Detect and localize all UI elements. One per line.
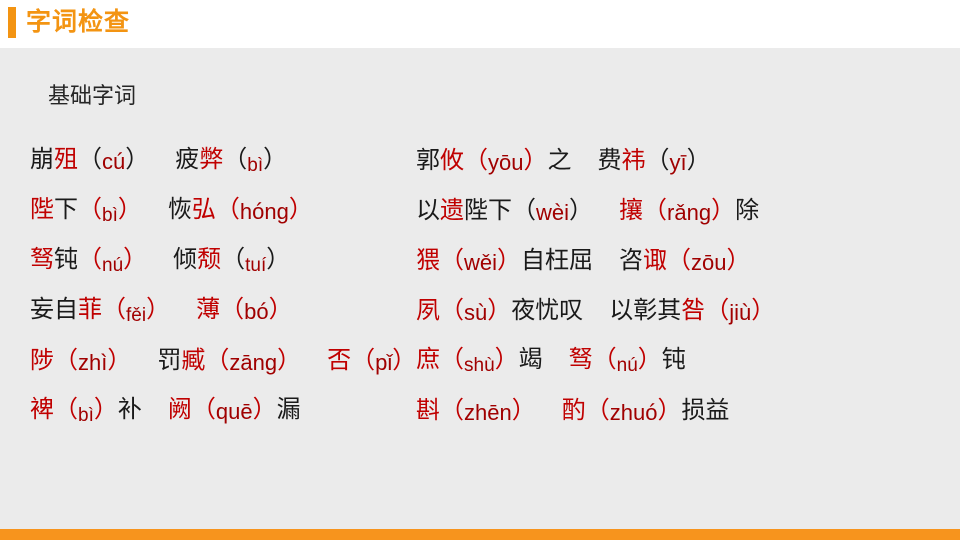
target-hanzi: 颓 xyxy=(197,246,221,273)
word-tail-hanzi: 除 xyxy=(735,197,759,224)
pinyin-open-paren: （ xyxy=(78,146,102,173)
word-tail-hanzi: 夜忧叹 xyxy=(511,297,583,324)
word-prefix-hanzi: 以彰其 xyxy=(609,297,681,324)
pinyin-close-paren: ） xyxy=(263,146,287,173)
pinyin-open-paren: （ xyxy=(645,147,669,174)
pinyin-open-paren: （ xyxy=(705,297,729,324)
pinyin-open-paren: （ xyxy=(54,347,78,374)
target-hanzi: 斟 xyxy=(416,397,440,424)
word-entry: 费祎（yī） xyxy=(597,146,710,176)
word-column-left: 陛下（bì）恢弘（hóng） xyxy=(0,195,400,227)
target-hanzi: 驽 xyxy=(569,346,593,373)
pinyin-annotation: bó xyxy=(244,299,268,324)
word-entry: 攘（rǎng）除 xyxy=(619,196,759,226)
pinyin-annotation: shù xyxy=(464,355,495,376)
pinyin-open-paren: （ xyxy=(221,246,245,273)
pinyin-annotation: sù xyxy=(464,300,487,325)
word-entry: 郭攸（yōu）之 xyxy=(416,146,571,176)
target-hanzi: 诹 xyxy=(643,247,667,274)
word-suffix-hanzi: 下 xyxy=(54,196,78,223)
pinyin-annotation: zhì xyxy=(78,350,107,375)
pinyin-close-paren: ） xyxy=(495,346,519,373)
word-prefix-hanzi: 咨 xyxy=(619,247,643,274)
target-hanzi: 驽 xyxy=(30,246,54,273)
pinyin-open-paren: （ xyxy=(440,346,464,373)
target-hanzi: 攸 xyxy=(440,147,464,174)
word-row: 裨（bì）补阙（quē）漏斟（zhēn）酌（zhuó）损益 xyxy=(0,386,960,436)
pinyin-close-paren: ） xyxy=(118,196,142,223)
word-entry: 夙（sù）夜忧叹 xyxy=(416,296,583,326)
pinyin-close-paren: ） xyxy=(487,297,511,324)
word-row: 陛下（bì）恢弘（hóng）以遗陛下（wèi）攘（rǎng）除 xyxy=(0,186,960,236)
target-hanzi: 否 xyxy=(327,347,351,374)
pinyin-close-paren: ） xyxy=(569,197,593,224)
page-title: 字词检查 xyxy=(26,7,130,38)
target-hanzi: 陟 xyxy=(30,347,54,374)
pinyin-open-paren: （ xyxy=(667,247,691,274)
pinyin-open-paren: （ xyxy=(593,346,617,373)
word-tail-hanzi: 之 xyxy=(547,147,571,174)
pinyin-annotation: jiù xyxy=(729,300,751,325)
pinyin-close-paren: ） xyxy=(657,397,681,424)
word-entry: 裨（bì）补 xyxy=(30,395,142,427)
word-entry: 以遗陛下（wèi） xyxy=(416,196,593,226)
word-entry: 疲弊（bì） xyxy=(175,145,287,177)
section-subtitle: 基础字词 xyxy=(48,82,136,110)
pinyin-annotation: zāng xyxy=(229,350,277,375)
target-hanzi: 弊 xyxy=(199,146,223,173)
word-prefix-hanzi: 罚 xyxy=(157,347,181,374)
pinyin-close-paren: ） xyxy=(638,346,662,373)
target-hanzi: 阙 xyxy=(168,396,192,423)
pinyin-close-paren: ） xyxy=(94,396,118,423)
pinyin-annotation: bì xyxy=(102,205,118,226)
word-row: 驽钝（nú）倾颓（tuí）猥（wěi）自枉屈咨诹（zōu） xyxy=(0,236,960,286)
pinyin-annotation: nú xyxy=(102,255,123,276)
pinyin-annotation: tuí xyxy=(245,255,266,276)
pinyin-open-paren: （ xyxy=(192,396,216,423)
pinyin-annotation: hóng xyxy=(240,199,289,224)
word-entry: 罚臧（zāng） xyxy=(157,346,301,376)
pinyin-close-paren: ） xyxy=(125,146,149,173)
slide-header: 字词检查 xyxy=(0,0,960,48)
target-hanzi: 臧 xyxy=(181,347,205,374)
word-prefix-hanzi: 疲 xyxy=(175,146,199,173)
word-prefix-hanzi: 费 xyxy=(597,147,621,174)
pinyin-open-paren: （ xyxy=(440,397,464,424)
word-entry: 妄自菲（fěi） xyxy=(30,295,170,327)
word-column-left: 崩殂（cú）疲弊（bì） xyxy=(0,145,400,177)
word-tail-hanzi: 钝 xyxy=(662,346,686,373)
word-row: 崩殂（cú）疲弊（bì）郭攸（yōu）之费祎（yī） xyxy=(0,136,960,186)
pinyin-annotation: bì xyxy=(78,405,94,426)
word-entry: 驽（nú）钝 xyxy=(569,345,686,377)
target-hanzi: 菲 xyxy=(78,296,102,323)
pinyin-annotation: zhuó xyxy=(610,400,658,425)
pinyin-annotation: wèi xyxy=(536,200,569,225)
pinyin-close-paren: ） xyxy=(266,246,290,273)
pinyin-open-paren: （ xyxy=(54,396,78,423)
pinyin-open-paren: （ xyxy=(205,347,229,374)
word-column-right: 斟（zhēn）酌（zhuó）损益 xyxy=(400,396,940,426)
pinyin-open-paren: （ xyxy=(78,246,102,273)
pinyin-annotation: quē xyxy=(216,399,253,424)
word-column-left: 驽钝（nú）倾颓（tuí） xyxy=(0,245,400,277)
word-entry: 薄（bó） xyxy=(196,295,292,325)
pinyin-close-paren: ） xyxy=(269,296,293,323)
word-column-right: 猥（wěi）自枉屈咨诹（zōu） xyxy=(400,246,940,276)
target-hanzi: 薄 xyxy=(196,296,220,323)
target-hanzi: 弘 xyxy=(192,196,216,223)
pinyin-open-paren: （ xyxy=(102,296,126,323)
pinyin-annotation: yōu xyxy=(488,150,523,175)
target-hanzi: 陛 xyxy=(30,196,54,223)
pinyin-close-paren: ） xyxy=(523,147,547,174)
word-tail-hanzi: 补 xyxy=(118,396,142,423)
word-entry: 猥（wěi）自枉屈 xyxy=(416,246,593,276)
pinyin-annotation: rǎng xyxy=(667,200,711,225)
pinyin-open-paren: （ xyxy=(216,196,240,223)
word-suffix-hanzi: 钝 xyxy=(54,246,78,273)
slide-body: 基础字词 崩殂（cú）疲弊（bì）郭攸（yōu）之费祎（yī）陛下（bì）恢弘（… xyxy=(0,48,960,529)
word-entry: 以彰其咎（jiù） xyxy=(609,296,775,326)
word-column-right: 夙（sù）夜忧叹以彰其咎（jiù） xyxy=(400,296,940,326)
target-hanzi: 夙 xyxy=(416,297,440,324)
word-entry: 恢弘（hóng） xyxy=(168,195,313,225)
pinyin-open-paren: （ xyxy=(220,296,244,323)
title-accent-bar xyxy=(8,7,16,38)
target-hanzi: 咎 xyxy=(681,297,705,324)
word-entry: 陛下（bì） xyxy=(30,195,142,227)
word-entry: 咨诹（zōu） xyxy=(619,246,750,276)
pinyin-close-paren: ） xyxy=(107,347,131,374)
pinyin-close-paren: ） xyxy=(146,296,170,323)
word-entry: 斟（zhēn） xyxy=(416,396,536,426)
target-hanzi: 攘 xyxy=(619,197,643,224)
pinyin-open-paren: （ xyxy=(512,197,536,224)
pinyin-close-paren: ） xyxy=(289,196,313,223)
word-column-right: 以遗陛下（wèi）攘（rǎng）除 xyxy=(400,196,940,226)
pinyin-open-paren: （ xyxy=(351,347,375,374)
word-column-left: 裨（bì）补阙（quē）漏 xyxy=(0,395,400,427)
word-grid: 崩殂（cú）疲弊（bì）郭攸（yōu）之费祎（yī）陛下（bì）恢弘（hóng）… xyxy=(0,136,960,436)
target-hanzi: 酌 xyxy=(562,397,586,424)
word-tail-hanzi: 漏 xyxy=(277,396,301,423)
pinyin-annotation: bì xyxy=(247,155,263,176)
word-prefix-hanzi: 妄自 xyxy=(30,296,78,323)
footer-accent-bar xyxy=(0,529,960,540)
pinyin-annotation: fěi xyxy=(126,305,146,326)
pinyin-open-paren: （ xyxy=(440,297,464,324)
word-entry: 驽钝（nú） xyxy=(30,245,147,277)
pinyin-annotation: zhēn xyxy=(464,400,512,425)
pinyin-close-paren: ） xyxy=(751,297,775,324)
target-hanzi: 祎 xyxy=(621,147,645,174)
pinyin-open-paren: （ xyxy=(440,247,464,274)
pinyin-close-paren: ） xyxy=(497,247,521,274)
word-row: 妄自菲（fěi）薄（bó）夙（sù）夜忧叹以彰其咎（jiù） xyxy=(0,286,960,336)
word-column-left: 陟（zhì）罚臧（zāng）否（pǐ） xyxy=(0,346,400,376)
word-tail-hanzi: 损益 xyxy=(681,397,729,424)
pinyin-annotation: zōu xyxy=(691,250,726,275)
word-prefix-hanzi: 倾 xyxy=(173,246,197,273)
pinyin-close-paren: ） xyxy=(711,197,735,224)
word-suffix-hanzi: 陛下 xyxy=(464,197,512,224)
target-hanzi: 殂 xyxy=(54,146,78,173)
word-column-left: 妄自菲（fěi）薄（bó） xyxy=(0,295,400,327)
pinyin-annotation: yī xyxy=(669,150,686,175)
pinyin-annotation: wěi xyxy=(464,250,497,275)
pinyin-close-paren: ） xyxy=(277,347,301,374)
target-hanzi: 遗 xyxy=(440,197,464,224)
pinyin-close-paren: ） xyxy=(512,397,536,424)
word-column-right: 庶（shù）竭驽（nú）钝 xyxy=(400,345,940,377)
pinyin-open-paren: （ xyxy=(643,197,667,224)
target-hanzi: 裨 xyxy=(30,396,54,423)
word-tail-hanzi: 竭 xyxy=(519,346,543,373)
word-entry: 阙（quē）漏 xyxy=(168,395,301,425)
pinyin-open-paren: （ xyxy=(223,146,247,173)
word-row: 陟（zhì）罚臧（zāng）否（pǐ）庶（shù）竭驽（nú）钝 xyxy=(0,336,960,386)
word-column-right: 郭攸（yōu）之费祎（yī） xyxy=(400,146,940,176)
word-prefix-hanzi: 崩 xyxy=(30,146,54,173)
pinyin-close-paren: ） xyxy=(253,396,277,423)
pinyin-annotation: nú xyxy=(617,355,638,376)
pinyin-annotation: pǐ xyxy=(375,350,392,375)
word-prefix-hanzi: 恢 xyxy=(168,196,192,223)
word-entry: 倾颓（tuí） xyxy=(173,245,290,277)
pinyin-open-paren: （ xyxy=(78,196,102,223)
pinyin-annotation: cú xyxy=(102,149,125,174)
target-hanzi: 庶 xyxy=(416,346,440,373)
pinyin-open-paren: （ xyxy=(586,397,610,424)
pinyin-close-paren: ） xyxy=(687,147,711,174)
target-hanzi: 猥 xyxy=(416,247,440,274)
pinyin-close-paren: ） xyxy=(123,246,147,273)
pinyin-close-paren: ） xyxy=(727,247,751,274)
word-entry: 庶（shù）竭 xyxy=(416,345,543,377)
word-entry: 崩殂（cú） xyxy=(30,145,149,175)
word-prefix-hanzi: 郭 xyxy=(416,147,440,174)
word-prefix-hanzi: 以 xyxy=(416,197,440,224)
word-entry: 酌（zhuó）损益 xyxy=(562,396,730,426)
pinyin-open-paren: （ xyxy=(464,147,488,174)
word-tail-hanzi: 自枉屈 xyxy=(521,247,593,274)
word-entry: 陟（zhì） xyxy=(30,346,131,376)
